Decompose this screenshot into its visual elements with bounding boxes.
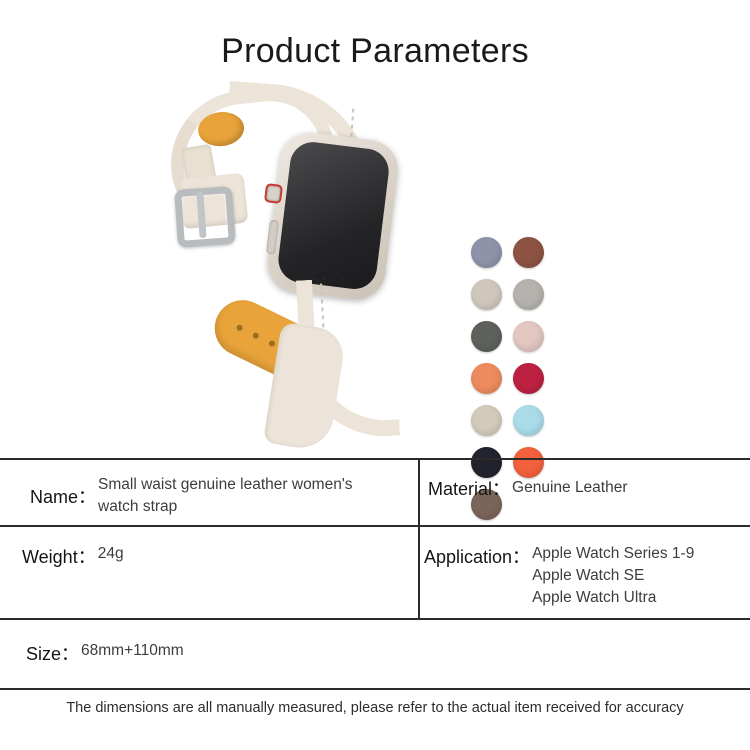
spec-value-application: Apple Watch Series 1-9 Apple Watch SE Ap… xyxy=(530,543,694,609)
swatch-dot xyxy=(471,279,502,310)
spec-value-size: 68mm+110mm xyxy=(79,640,184,662)
spec-label-material: Material： xyxy=(428,474,510,501)
swatch-dot xyxy=(513,363,544,394)
swatch-dot xyxy=(471,321,502,352)
spec-value-line: watch strap xyxy=(98,496,353,518)
spec-cell-application: Application： Apple Watch Series 1-9 Appl… xyxy=(418,527,750,618)
spec-label-application: Application： xyxy=(424,543,530,609)
color-swatch-warm-gray[interactable] xyxy=(510,277,550,313)
color-swatch-light-blue[interactable] xyxy=(510,403,550,439)
swatch-dot xyxy=(471,237,502,268)
color-swatch-orange[interactable] xyxy=(468,361,508,397)
spec-label-size: Size： xyxy=(26,640,79,666)
spec-value-line: 68mm+110mm xyxy=(81,640,184,662)
spec-value-line: Apple Watch SE xyxy=(532,565,694,587)
spec-value-line: 24g xyxy=(98,543,124,565)
spec-value-weight: 24g xyxy=(96,543,124,565)
swatch-dot xyxy=(513,237,544,268)
color-swatch-dark-gray[interactable] xyxy=(468,319,508,355)
spec-value-line: Small waist genuine leather women's xyxy=(98,474,353,496)
footnote-text: The dimensions are all manually measured… xyxy=(0,700,750,716)
spec-cell-name: Name： Small waist genuine leather women'… xyxy=(0,460,418,525)
swatch-dot xyxy=(471,405,502,436)
spec-cell-size: Size： 68mm+110mm xyxy=(0,620,750,688)
swatch-dot xyxy=(513,279,544,310)
spec-row-size: Size： 68mm+110mm xyxy=(0,620,750,690)
product-parameters-page: Product Parameters xyxy=(0,0,750,750)
digital-crown-icon xyxy=(264,183,283,204)
spec-value-line: Apple Watch Ultra xyxy=(532,587,694,609)
swatch-dot xyxy=(513,405,544,436)
spec-cell-material: Material： Genuine Leather xyxy=(418,460,750,525)
spec-row-name: Name： Small waist genuine leather women'… xyxy=(0,460,750,527)
product-image xyxy=(0,80,750,455)
page-title: Product Parameters xyxy=(0,32,750,71)
spec-value-material: Genuine Leather xyxy=(510,474,627,499)
spec-table: Name： Small waist genuine leather women'… xyxy=(0,458,750,688)
color-swatch-blue-gray[interactable] xyxy=(468,235,508,271)
color-swatch-brown[interactable] xyxy=(510,235,550,271)
spec-cell-weight: Weight： 24g xyxy=(0,527,418,618)
color-swatch-tan[interactable] xyxy=(468,403,508,439)
swatch-dot xyxy=(513,321,544,352)
spec-value-name: Small waist genuine leather women's watc… xyxy=(96,474,353,518)
color-swatch-beige[interactable] xyxy=(468,277,508,313)
spec-row-weight: Weight： 24g Application： Apple Watch Ser… xyxy=(0,527,750,620)
color-swatch-crimson[interactable] xyxy=(510,361,550,397)
watch-illustration xyxy=(150,80,450,455)
swatch-dot xyxy=(471,363,502,394)
spec-label-name: Name： xyxy=(30,474,96,509)
spec-label-weight: Weight： xyxy=(22,543,96,569)
spec-value-line: Apple Watch Series 1-9 xyxy=(532,543,694,565)
spec-value-line: Genuine Leather xyxy=(512,477,627,499)
watch-screen xyxy=(276,140,391,292)
color-swatch-blush-pink[interactable] xyxy=(510,319,550,355)
